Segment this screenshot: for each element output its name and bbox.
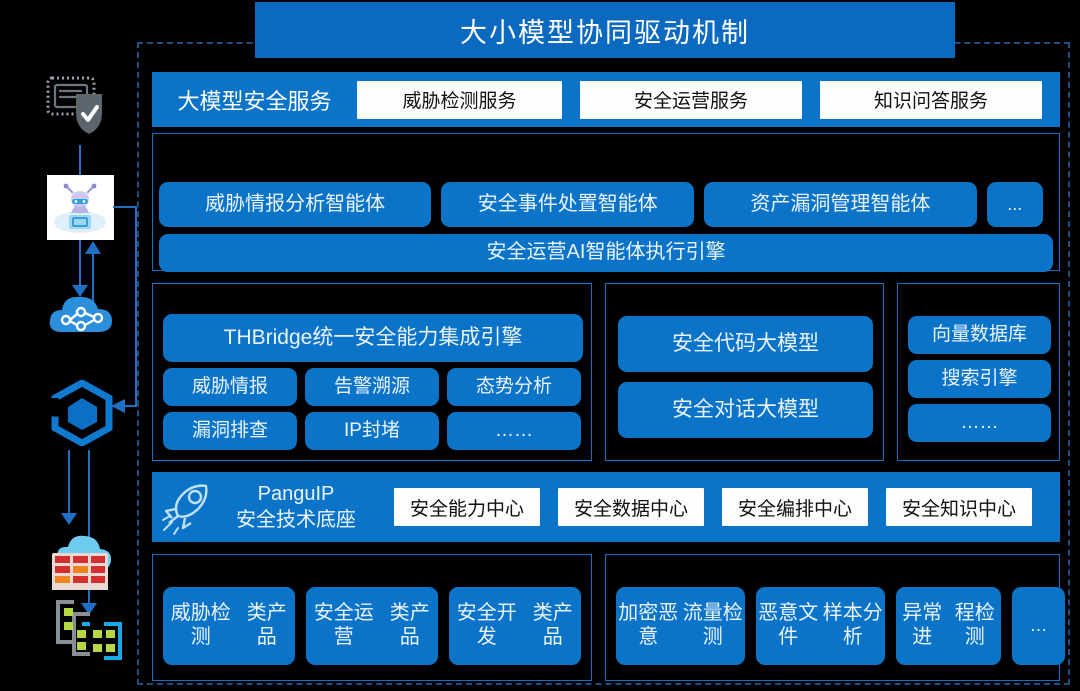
service-chip-knowledge-qa[interactable]: 知识问答服务 <box>820 81 1042 119</box>
thbridge-engine-chip[interactable]: THBridge统一安全能力集成引擎 <box>163 314 583 362</box>
capability-chip-ip-blocking[interactable]: IP封堵 <box>305 412 439 450</box>
capability-chip-situation-analysis[interactable]: 态势分析 <box>447 368 581 406</box>
foundation-subtitle: 安全技术底座 <box>216 507 376 533</box>
agent-execution-engine[interactable]: 安全运营AI智能体执行引擎 <box>159 234 1053 272</box>
big-model-security-services-bar: 大模型安全服务 威胁检测服务 安全运营服务 知识问答服务 <box>152 72 1060 127</box>
data-chip-vector-database[interactable]: 向量数据库 <box>908 316 1051 354</box>
agent-panel: 威胁情报分析智能体 安全事件处置智能体 资产漏洞管理智能体 ... 安全运营AI… <box>152 133 1060 271</box>
products-panel-right: 加密恶意流量检测 恶意文件样本分析 异常进程检测 … <box>605 554 1060 681</box>
product-chip-security-operations[interactable]: 安全运营类产品 <box>306 587 438 665</box>
product-chip-security-development[interactable]: 安全开发类产品 <box>449 587 581 665</box>
product-chip-row: 威胁检测类产品 安全运营类产品 安全开发类产品 <box>163 587 581 665</box>
foundation-brand: PanguIP <box>216 481 376 507</box>
connector-line <box>113 206 137 208</box>
product-chip-abnormal-process-detection[interactable]: 异常进程检测 <box>896 587 1001 665</box>
product-chip-malicious-file-analysis[interactable]: 恶意文件样本分析 <box>756 587 885 665</box>
capability-chip-more[interactable]: …… <box>447 412 581 450</box>
services-label: 大模型安全服务 <box>152 84 357 116</box>
document-shield-icon <box>44 70 114 145</box>
capability-chip-threat-intel[interactable]: 威胁情报 <box>163 368 297 406</box>
data-chip-more[interactable]: …… <box>908 404 1051 442</box>
products-panel-left: 威胁检测类产品 安全运营类产品 安全开发类产品 <box>152 554 592 681</box>
left-icon-rail <box>0 0 137 691</box>
agent-chip-threat-intel-analysis[interactable]: 威胁情报分析智能体 <box>159 182 431 227</box>
data-chip-search-engine[interactable]: 搜索引擎 <box>908 360 1051 398</box>
agent-chip-asset-vuln-management[interactable]: 资产漏洞管理智能体 <box>704 182 976 227</box>
center-chip-capability[interactable]: 安全能力中心 <box>394 488 540 526</box>
agent-chip-more[interactable]: ... <box>987 182 1043 227</box>
data-nodes-icon <box>46 596 124 667</box>
neural-cloud-icon <box>46 290 116 347</box>
service-chip-threat-detection[interactable]: 威胁检测服务 <box>357 81 562 119</box>
product-chip-row: 加密恶意流量检测 恶意文件样本分析 异常进程检测 … <box>616 587 1065 665</box>
center-chip-data[interactable]: 安全数据中心 <box>558 488 704 526</box>
agent-chip-row: 威胁情报分析智能体 安全事件处置智能体 资产漏洞管理智能体 ... <box>159 182 1053 227</box>
product-chip-encrypted-malicious-traffic[interactable]: 加密恶意流量检测 <box>616 587 745 665</box>
database-cloud-icon <box>44 528 120 595</box>
rocket-icon <box>158 478 216 536</box>
capability-grid: 威胁情报 告警溯源 态势分析 漏洞排查 IP封堵 …… <box>163 368 583 450</box>
large-model-panel: 安全代码大模型 安全对话大模型 <box>605 283 884 461</box>
connector-line <box>120 405 137 407</box>
hexagon-core-icon <box>47 380 117 451</box>
agent-chip-incident-response[interactable]: 安全事件处置智能体 <box>441 182 694 227</box>
connector-line <box>68 450 70 518</box>
model-chip-security-code[interactable]: 安全代码大模型 <box>618 316 873 372</box>
capability-integration-panel: THBridge统一安全能力集成引擎 威胁情报 告警溯源 态势分析 漏洞排查 I… <box>152 283 592 461</box>
center-chip-orchestration[interactable]: 安全编排中心 <box>722 488 868 526</box>
arrow-down-icon <box>60 510 78 526</box>
foundation-bar: PanguIP 安全技术底座 安全能力中心 安全数据中心 安全编排中心 安全知识… <box>152 472 1060 542</box>
ai-robot-chip-icon <box>47 175 114 240</box>
capability-chip-alert-tracing[interactable]: 告警溯源 <box>305 368 439 406</box>
service-chip-security-operations[interactable]: 安全运营服务 <box>580 81 802 119</box>
foundation-brand-block: PanguIP 安全技术底座 <box>216 481 376 533</box>
data-service-panel: 向量数据库 搜索引擎 …… <box>897 283 1060 461</box>
capability-chip-vuln-investigation[interactable]: 漏洞排查 <box>163 412 297 450</box>
arrow-up-icon <box>84 240 102 256</box>
page-title: 大小模型协同驱动机制 <box>255 2 955 58</box>
product-chip-threat-detection[interactable]: 威胁检测类产品 <box>163 587 295 665</box>
product-chip-more[interactable]: … <box>1012 587 1065 665</box>
model-chip-security-dialogue[interactable]: 安全对话大模型 <box>618 382 873 438</box>
center-chip-knowledge[interactable]: 安全知识中心 <box>886 488 1032 526</box>
